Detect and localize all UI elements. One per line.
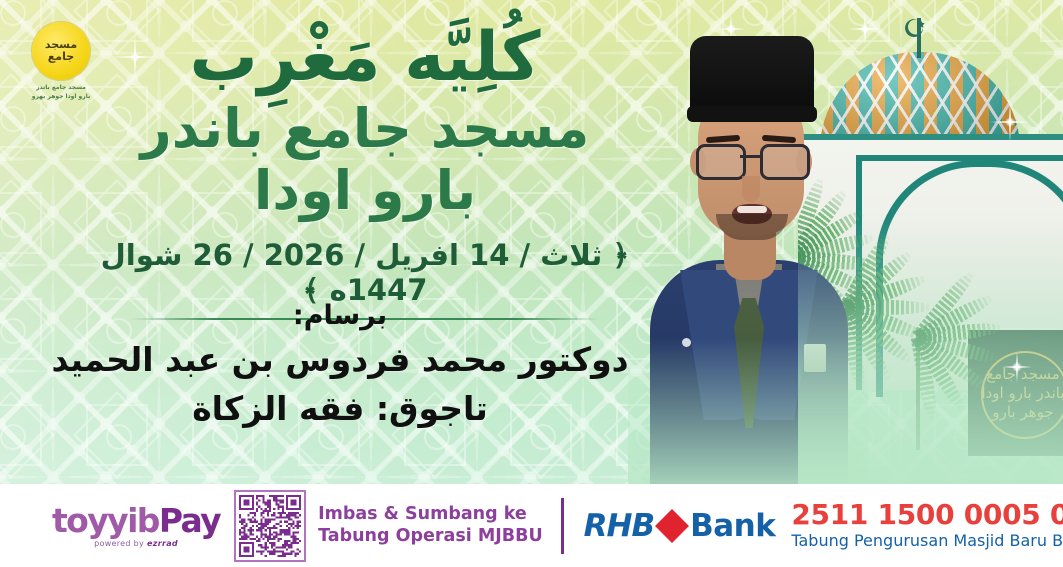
toyyibpay-word-a: toyyib xyxy=(52,501,159,540)
poster-root: مسجد جامع باندر بارو اودا جوهر بارو xyxy=(0,0,1063,567)
footer-bar: toyyibPay powered by ezrrad Imbas & Sumb… xyxy=(0,484,1063,567)
powered-prefix: powered by xyxy=(94,539,144,548)
speaker-label: برسام: xyxy=(30,300,650,332)
speaker-name: دوكتور محمد فردوس بن عبد الحميد xyxy=(30,338,650,383)
toyyibpay-wordmark: toyyibPay xyxy=(52,504,220,537)
toyyibpay-word-b: Pay xyxy=(159,501,220,540)
songkok-cap xyxy=(690,36,814,116)
speaker-nose xyxy=(742,176,760,202)
qr-modules xyxy=(239,495,301,557)
eyeglasses-icon xyxy=(694,144,808,176)
event-topic: تاجوق: فقه الزكاة xyxy=(30,387,650,432)
powered-brand: ezrrad xyxy=(147,539,178,548)
rhb-mark: RHB xyxy=(584,508,654,544)
toyyibpay-logo[interactable]: toyyibPay powered by ezrrad xyxy=(52,504,220,548)
event-date: ﴿ ثلاث / 14 افريل / 2026 / 26 شوال 1447ه… xyxy=(80,238,650,308)
mosque-photo: مسجد جامع باندر بارو اودا جوهر بارو xyxy=(798,0,1063,484)
mosque-fade-overlay xyxy=(798,0,1063,484)
headline-block: كُلِيَّه مَغْرِب مسجد جامع باندر بارو او… xyxy=(80,24,650,320)
account-fund-name: Tabung Pengurusan Masjid Baru BBU xyxy=(791,531,1063,551)
toyyibpay-powered-by: powered by ezrrad xyxy=(94,539,178,548)
scan-donate-text: Imbas & Sumbang ke Tabung Operasi MJBBU xyxy=(318,504,543,547)
qr-code[interactable] xyxy=(234,490,306,562)
scan-line-1: Imbas & Sumbang ke xyxy=(318,504,543,525)
event-info-block: برسام: دوكتور محمد فردوس بن عبد الحميد ت… xyxy=(30,300,650,431)
headline-subtitle: مسجد جامع باندر بارو اودا xyxy=(80,98,650,222)
footer-divider xyxy=(561,498,564,554)
rhb-bank-word: Bank xyxy=(690,508,775,544)
account-number: 2511 1500 0005 03 xyxy=(791,500,1063,529)
headline-title: كُلِيَّه مَغْرِب xyxy=(80,24,650,92)
rhb-bank-logo: RHB Bank xyxy=(584,508,776,544)
rhb-diamond-icon xyxy=(655,509,689,543)
lens-left xyxy=(696,144,746,180)
bank-account-block: 2511 1500 0005 03 Tabung Pengurusan Masj… xyxy=(791,500,1063,550)
scan-line-2: Tabung Operasi MJBBU xyxy=(318,526,543,547)
glasses-bridge xyxy=(740,155,762,158)
